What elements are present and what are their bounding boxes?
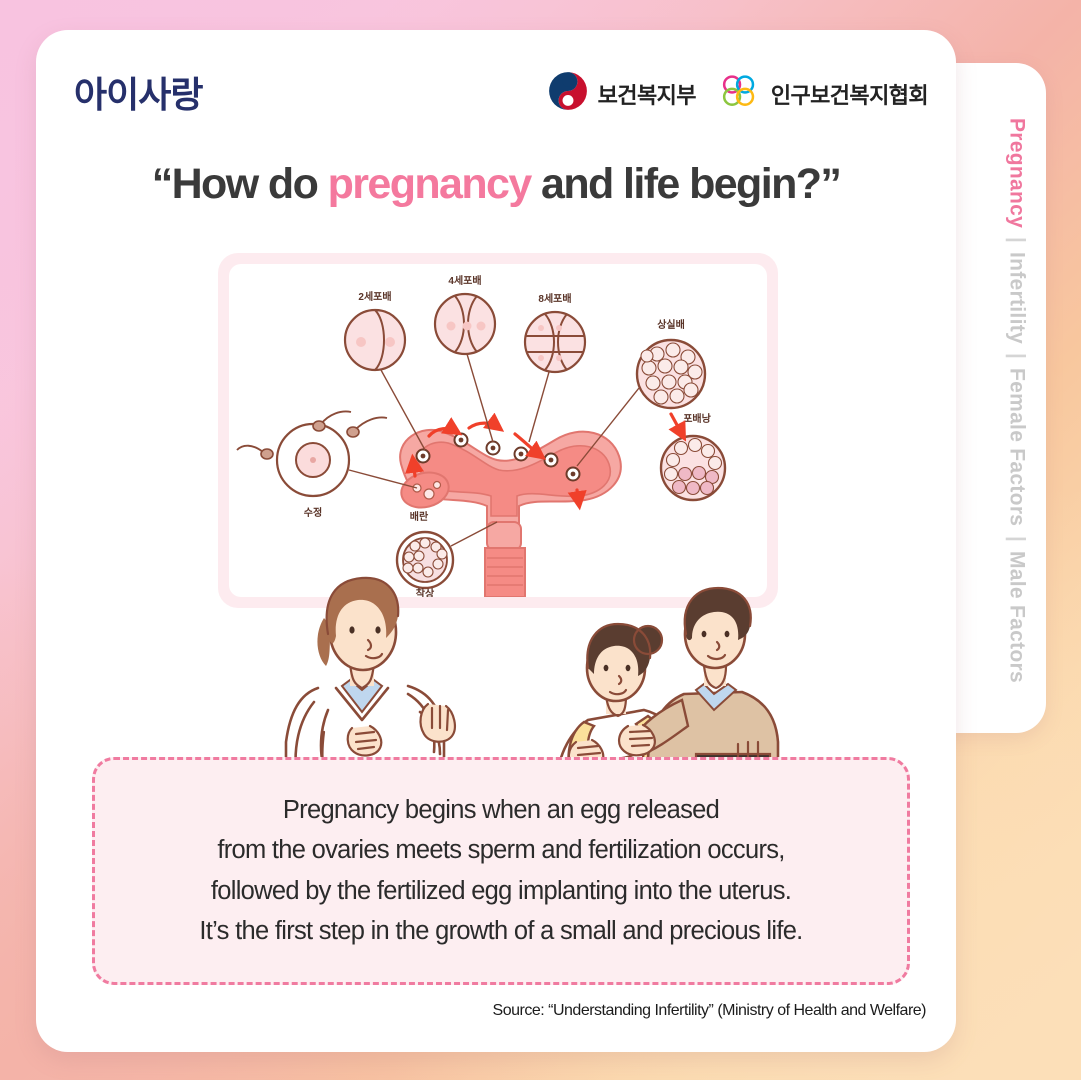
tab-separator-3: | bbox=[1007, 536, 1028, 542]
partner-logo-mohw: 보건복지부 bbox=[547, 70, 696, 117]
tab-separator-1: | bbox=[1007, 237, 1028, 243]
sidebar-item-pregnancy[interactable]: Pregnancy bbox=[1007, 118, 1028, 228]
fertilization-diagram: .ln { fill:none; stroke:#8A4B38; stroke-… bbox=[229, 264, 767, 597]
description-line-1: Pregnancy begins when an egg released bbox=[283, 795, 719, 826]
ppfk-circles-icon bbox=[718, 73, 762, 114]
main-card: 아이사랑 보건복지부 인구보건 bbox=[36, 30, 956, 1052]
partner-logo-label-ppfk: 인구보건복지협회 bbox=[771, 78, 928, 110]
partner-logo-ppfk: 인구보건복지협회 bbox=[718, 73, 928, 114]
diagram-panel-frame: .ln { fill:none; stroke:#8A4B38; stroke-… bbox=[218, 253, 778, 608]
label-morula: 상실배 bbox=[657, 318, 685, 331]
page-title: “How do pregnancy and life begin?” bbox=[36, 160, 956, 209]
illustration-area: .ln { fill:none; stroke:#8A4B38; stroke-… bbox=[36, 242, 956, 772]
description-line-4: It’s the first step in the growth of a s… bbox=[199, 916, 802, 947]
headline-highlight: pregnancy bbox=[328, 160, 531, 208]
headline-part1: How do bbox=[172, 160, 328, 208]
sidebar-item-male-factors[interactable]: Male Factors bbox=[1007, 551, 1028, 683]
category-tab-list: Pregnancy | Infertility | Female Factors… bbox=[994, 63, 1040, 733]
label-implantation: 착상 bbox=[416, 587, 435, 597]
description-line-2: from the ovaries meets sperm and fertili… bbox=[217, 835, 784, 866]
headline-part2: and life begin? bbox=[531, 160, 821, 208]
sidebar-item-female-factors[interactable]: Female Factors bbox=[1007, 368, 1028, 526]
label-2cell: 2세포배 bbox=[358, 290, 391, 303]
tab-separator-2: | bbox=[1007, 353, 1028, 359]
label-ovulation: 배란 bbox=[410, 510, 429, 523]
label-fertilization: 수정 bbox=[304, 506, 322, 519]
source-citation: Source: “Understanding Infertility” (Min… bbox=[36, 1002, 926, 1020]
headline-open-quote: “ bbox=[152, 160, 172, 208]
label-blastocyst: 포배낭 bbox=[683, 412, 711, 425]
pregnant-woman-figure bbox=[558, 624, 676, 772]
label-4cell: 4세포배 bbox=[448, 274, 481, 287]
description-line-3: followed by the fertilized egg implantin… bbox=[211, 876, 791, 907]
partner-man-figure bbox=[619, 588, 778, 772]
diagram-svg: .ln { fill:none; stroke:#8A4B38; stroke-… bbox=[229, 264, 767, 597]
partner-logo-row: 보건복지부 인구보건복지협회 bbox=[547, 70, 928, 117]
label-8cell: 8세포배 bbox=[538, 292, 571, 305]
korea-taegeuk-icon bbox=[547, 70, 589, 117]
sidebar-item-infertility[interactable]: Infertility bbox=[1007, 252, 1028, 344]
brand-logo[interactable]: 아이사랑 bbox=[74, 66, 202, 118]
headline-close-quote: ” bbox=[820, 160, 840, 208]
description-box: Pregnancy begins when an egg released fr… bbox=[92, 757, 910, 985]
partner-logo-label-mohw: 보건복지부 bbox=[598, 78, 696, 110]
